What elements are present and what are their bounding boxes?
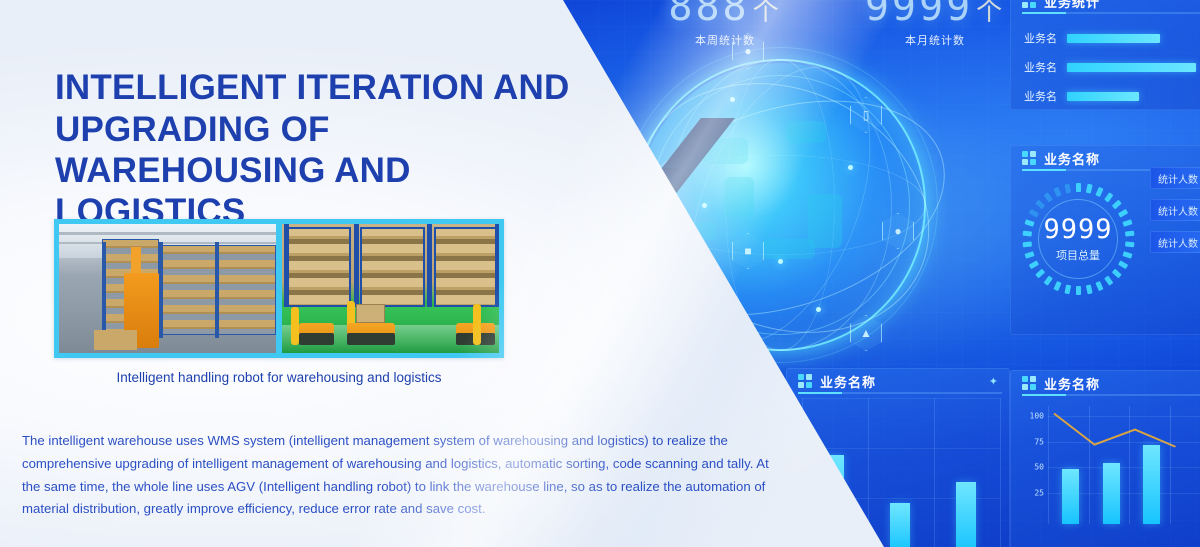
gridline [1048, 416, 1200, 417]
hero-banner: ● ▯ ● ▲ ■ 888个 本周统计数 9999个 本月统计数 业务统计 业务… [0, 0, 1200, 547]
panel-business-statistics[interactable]: 业务统计 业务名 业务名 业务名 [1010, 0, 1200, 110]
grid-icon [1022, 0, 1036, 8]
photo-rack-upright [427, 224, 432, 309]
body-paragraph: The intelligent warehouse uses WMS syste… [22, 430, 774, 521]
panel-project-total[interactable]: 业务名称 9999 项目总量 统计人数 统计人数 统计人数 [1010, 145, 1200, 335]
panel-left-chart-header: 业务名称 ✦ [786, 368, 1010, 394]
project-total-gauge: 9999 项目总量 [1022, 183, 1134, 295]
gauge-side-chips: 统计人数 统计人数 统计人数 [1150, 167, 1200, 263]
photo-agv-robot [299, 323, 334, 345]
business-rows: 业务名 业务名 业务名 [1010, 14, 1200, 104]
chip-statistic[interactable]: 统计人数 [1150, 199, 1200, 221]
row-progress-bar [1067, 63, 1196, 72]
gauge-center: 9999 项目总量 [1038, 199, 1118, 279]
network-node [778, 259, 783, 264]
photo-beam [59, 232, 276, 235]
right-chart-area: 255075100 [1010, 406, 1200, 546]
photo-rack [434, 227, 499, 307]
right-chart-plot [1048, 406, 1200, 524]
gauge-value: 9999 [1043, 216, 1112, 243]
photo-rack [360, 227, 425, 307]
photo-rack [286, 227, 351, 307]
counter-monthly-unit: 个 [976, 0, 1005, 27]
y-tick-label: 25 [1034, 488, 1044, 497]
gridline [1000, 398, 1001, 547]
photo-rack-upright [284, 224, 289, 309]
photo-warehouse-agv [282, 224, 499, 353]
grid-icon [1022, 376, 1036, 390]
photo-warehouse-forklift [59, 224, 276, 353]
chart-bar [890, 503, 910, 547]
gridline [934, 398, 935, 547]
photo-rack-upright [495, 224, 499, 309]
photo-rack-upright [159, 242, 163, 337]
photo-caption: Intelligent handling robot for warehousi… [54, 370, 504, 385]
panel-business-statistics-title: 业务统计 [1044, 0, 1100, 11]
panel-divider [1022, 394, 1200, 396]
photo-agv-guard [473, 304, 481, 345]
list-item[interactable]: 业务名 [1024, 30, 1200, 46]
list-item[interactable]: 业务名 [1024, 59, 1200, 75]
y-tick-label: 75 [1034, 437, 1044, 446]
photo-agv-robot [347, 323, 395, 345]
row-label: 业务名 [1024, 59, 1057, 75]
panel-right-chart[interactable]: 业务名称 255075100 [1010, 370, 1200, 547]
list-item[interactable]: 业务名 [1024, 88, 1200, 104]
chip-statistic[interactable]: 统计人数 [1150, 231, 1200, 253]
panel-divider [798, 392, 1002, 394]
page-title: INTELLIGENT ITERATION AND UPGRADING OF W… [55, 67, 575, 232]
counter-weekly-label: 本周统计数 [640, 32, 810, 48]
y-tick-label: 50 [1034, 463, 1044, 472]
chart-bar [1103, 463, 1120, 524]
grid-icon [1022, 151, 1036, 165]
photo-agv-guard [291, 307, 299, 346]
gridline [1170, 406, 1171, 524]
panel-left-chart-title: 业务名称 [820, 372, 876, 391]
network-node [848, 165, 853, 170]
counter-monthly-label: 本月统计数 [840, 32, 1030, 48]
counter-weekly-value: 888 [668, 0, 749, 30]
gauge-caption: 项目总量 [1056, 247, 1100, 263]
panel-business-statistics-header: 业务统计 [1010, 0, 1200, 14]
photo-gallery-frame [54, 219, 504, 358]
row-label: 业务名 [1024, 88, 1057, 104]
gridline [1089, 406, 1090, 524]
row-progress-bar [1067, 34, 1160, 43]
grid-icon [798, 374, 812, 388]
gridline [802, 398, 1000, 399]
panel-right-chart-header: 业务名称 [1010, 370, 1200, 396]
photo-rack-upright [102, 242, 106, 337]
counter-monthly-value: 9999 [865, 0, 973, 30]
network-node [702, 203, 707, 208]
panel-divider [1022, 12, 1200, 14]
gridline [1048, 406, 1049, 524]
row-progress-bar [1067, 92, 1139, 101]
counter-weekly: 888个 本周统计数 [640, 0, 810, 48]
photo-rack-upright [354, 224, 359, 309]
chip-statistic[interactable]: 统计人数 [1150, 167, 1200, 189]
panel-project-total-title: 业务名称 [1044, 149, 1100, 168]
gridline [1048, 467, 1200, 468]
gridline [1048, 442, 1200, 443]
statistics-counters: 888个 本周统计数 9999个 本月统计数 [640, 0, 1060, 54]
row-label: 业务名 [1024, 30, 1057, 46]
sparkle-icon: ✦ [989, 375, 998, 388]
counter-monthly: 9999个 本月统计数 [840, 0, 1030, 48]
gridline [802, 448, 1000, 449]
chart-bar [956, 482, 976, 547]
network-node [730, 97, 735, 102]
counter-weekly-unit: 个 [753, 0, 782, 27]
photo-rack-upright [215, 242, 219, 337]
panel-right-chart-title: 业务名称 [1044, 374, 1100, 393]
photo-pallet-load [94, 330, 137, 351]
y-tick-label: 100 [1030, 412, 1044, 421]
gridline [1129, 406, 1130, 524]
y-axis-ticks: 255075100 [1018, 406, 1044, 518]
chart-bar [1062, 469, 1079, 524]
network-node [816, 307, 821, 312]
chart-bar [1143, 445, 1160, 524]
